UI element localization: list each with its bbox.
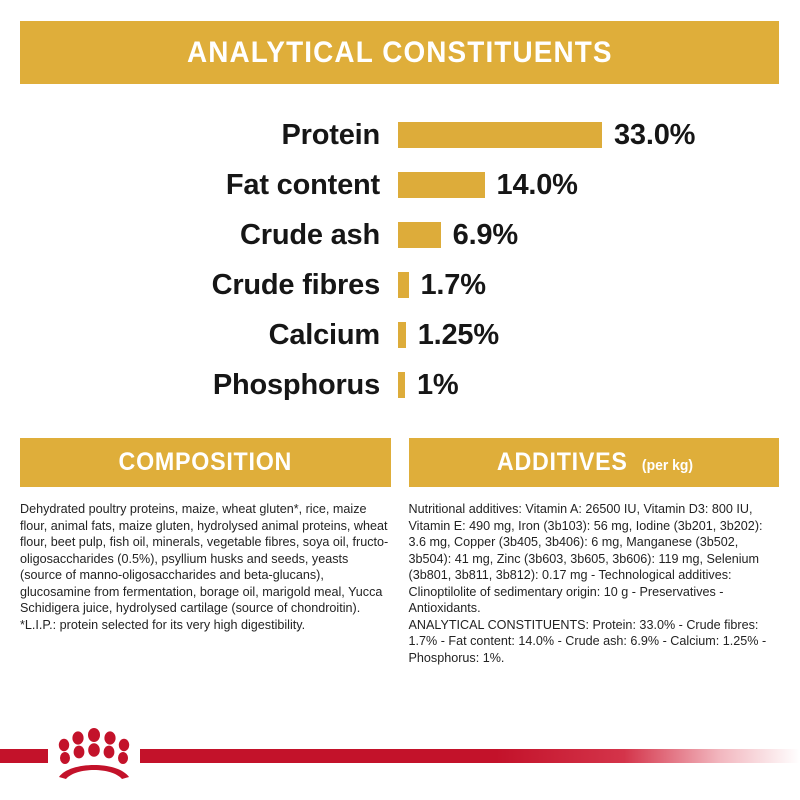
chart-bar-wrap: 6.9% — [398, 221, 518, 250]
royal-canin-crown-icon — [52, 726, 136, 782]
composition-body: Dehydrated poultry proteins, maize, whea… — [20, 487, 391, 633]
chart-row: Fat content 14.0% — [0, 160, 800, 210]
chart-bar-wrap: 1.7% — [398, 271, 486, 300]
chart-value: 33.0% — [614, 121, 695, 150]
chart-label: Crude ash — [0, 221, 380, 250]
chart-bar — [398, 222, 441, 248]
composition-title: COMPOSITION — [118, 450, 292, 475]
chart-value: 6.9% — [453, 221, 518, 250]
chart-bar — [398, 272, 409, 298]
composition-column: COMPOSITION Dehydrated poultry proteins,… — [20, 438, 391, 666]
chart-label: Protein — [0, 121, 380, 150]
composition-text: Dehydrated poultry proteins, maize, whea… — [20, 501, 391, 617]
additives-analytical-text: ANALYTICAL CONSTITUENTS: Protein: 33.0% … — [409, 617, 780, 667]
chart-bar — [398, 122, 602, 148]
additives-header: ADDITIVES (per kg) — [409, 438, 780, 487]
additives-subtitle: (per kg) — [642, 458, 693, 473]
composition-header: COMPOSITION — [20, 438, 391, 487]
chart-row: Protein 33.0% — [0, 110, 800, 160]
page-title: ANALYTICAL CONSTITUENTS — [187, 38, 613, 68]
additives-text: Nutritional additives: Vitamin A: 26500 … — [409, 501, 780, 617]
chart-value: 1.7% — [421, 271, 486, 300]
chart-bar-wrap: 14.0% — [398, 171, 578, 200]
chart-bar-wrap: 1% — [398, 371, 459, 400]
chart-bar — [398, 322, 406, 348]
details-sections: COMPOSITION Dehydrated poultry proteins,… — [20, 438, 779, 666]
chart-row: Phosphorus 1% — [0, 360, 800, 410]
chart-label: Phosphorus — [0, 371, 380, 400]
chart-label: Fat content — [0, 171, 380, 200]
additives-title: ADDITIVES — [497, 450, 628, 475]
analytical-constituents-banner: ANALYTICAL CONSTITUENTS — [20, 21, 779, 84]
chart-bar — [398, 172, 485, 198]
chart-value: 14.0% — [497, 171, 578, 200]
chart-label: Crude fibres — [0, 271, 380, 300]
chart-row: Crude ash 6.9% — [0, 210, 800, 260]
additives-column: ADDITIVES (per kg) Nutritional additives… — [409, 438, 780, 666]
chart-bar-wrap: 1.25% — [398, 321, 499, 350]
chart-row: Crude fibres 1.7% — [0, 260, 800, 310]
chart-label: Calcium — [0, 321, 380, 350]
chart-row: Calcium 1.25% — [0, 310, 800, 360]
chart-bar-wrap: 33.0% — [398, 121, 695, 150]
chart-value: 1.25% — [418, 321, 499, 350]
chart-bar — [398, 372, 405, 398]
additives-body: Nutritional additives: Vitamin A: 26500 … — [409, 487, 780, 666]
analytical-constituents-chart: Protein 33.0% Fat content 14.0% Crude as… — [0, 110, 800, 410]
chart-value: 1% — [417, 371, 459, 400]
composition-footnote: *L.I.P.: protein selected for its very h… — [20, 617, 391, 634]
